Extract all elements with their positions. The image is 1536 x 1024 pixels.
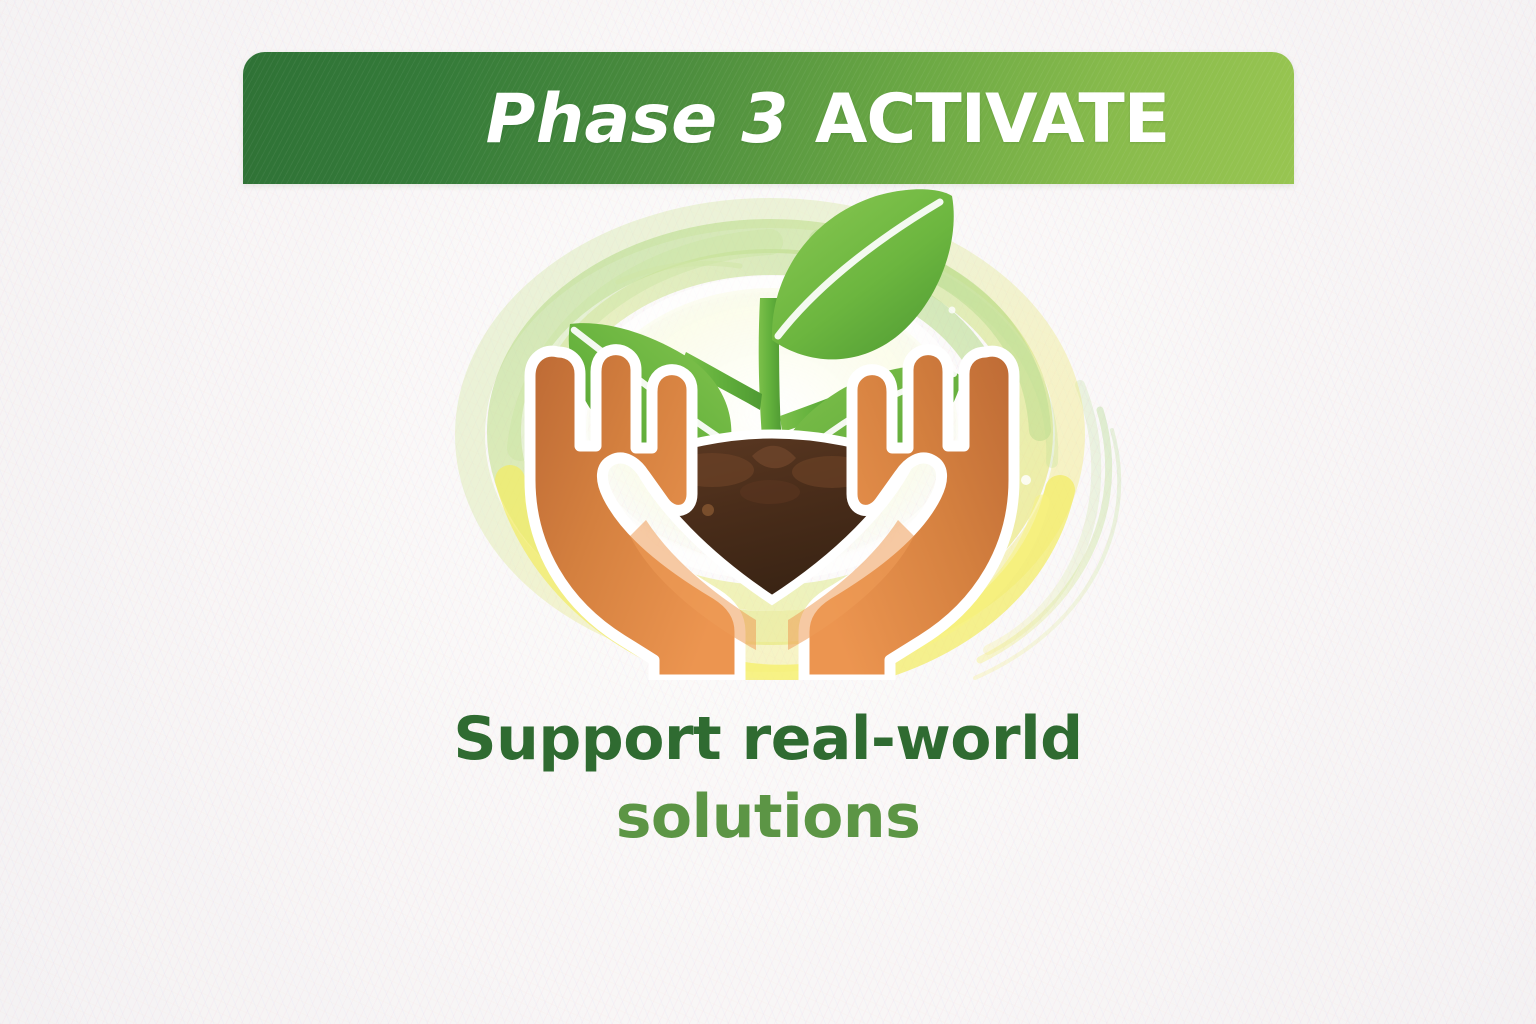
banner-title: Phase 3ACTIVATE [368, 13, 1169, 224]
caption-block: Support real-world solutions [0, 700, 1536, 856]
slide-canvas: Phase 3ACTIVATE [0, 0, 1536, 1024]
caption-line-1: Support real-world [0, 700, 1536, 778]
hands-holding-seedling-illustration [440, 180, 1140, 680]
banner-phase-word: ACTIVATE [815, 80, 1169, 159]
phase-header-banner: Phase 3ACTIVATE [243, 52, 1294, 184]
banner-phase-label: Phase 3 [486, 80, 789, 159]
caption-line-2: solutions [0, 778, 1536, 856]
